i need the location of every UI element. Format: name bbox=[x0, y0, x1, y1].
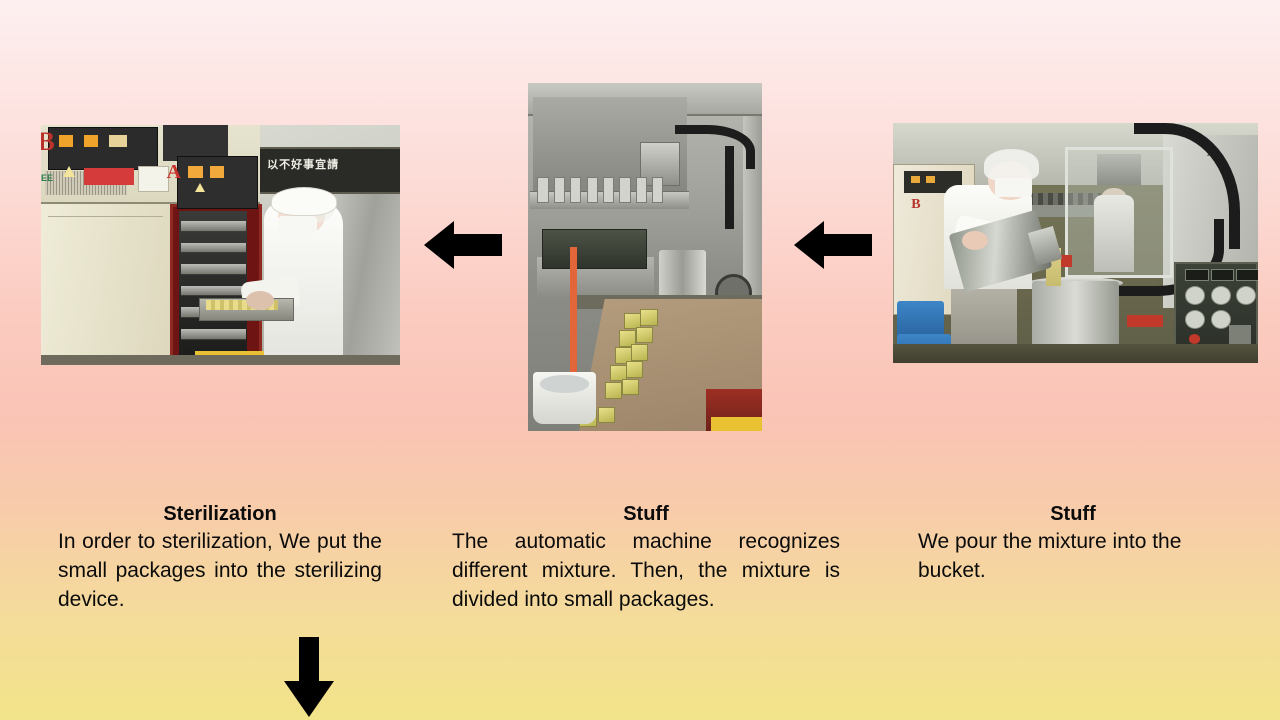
photo-left-oven-cabinet bbox=[41, 199, 172, 365]
photo-sterilization: 以不好事宜請 A B EE bbox=[41, 125, 400, 365]
photo-left-letter-b: B bbox=[41, 127, 55, 157]
photo-left-indicator-light bbox=[210, 166, 224, 178]
photo-mid-clamp bbox=[537, 177, 548, 203]
photo-right-gauge bbox=[1185, 286, 1205, 305]
photo-mid-clamp bbox=[603, 177, 614, 203]
photo-mid-sachet bbox=[636, 327, 653, 344]
photo-mid-clamp bbox=[619, 177, 630, 203]
caption-packaging: Stuff The automatic machine recognizes d… bbox=[452, 502, 840, 615]
photo-mid-sachet bbox=[605, 382, 622, 399]
photo-right-display bbox=[1211, 269, 1235, 281]
photo-mid-clamp bbox=[587, 177, 598, 203]
process-flow-slide: 以不好事宜請 A B EE bbox=[0, 0, 1280, 720]
photo-left-oven-tray bbox=[181, 221, 246, 232]
photo-right-stainless-vat bbox=[1032, 281, 1120, 353]
photo-right-display bbox=[1236, 269, 1258, 281]
arrow-down-icon bbox=[283, 637, 335, 720]
photo-right-letter-b: B bbox=[911, 197, 920, 213]
photo-left-indicator-light bbox=[84, 135, 98, 147]
photo-mid-sachet bbox=[631, 344, 648, 361]
photo-right-red-tray bbox=[1127, 315, 1164, 327]
photo-left-oven-tray bbox=[181, 329, 246, 340]
caption-title-mixing: Stuff bbox=[918, 502, 1228, 526]
photo-pouring-mixture: B A bbox=[893, 123, 1258, 363]
photo-mid-sachet bbox=[622, 379, 639, 396]
caption-body-sterilization: In order to sterilization, We put the sm… bbox=[58, 528, 382, 615]
photo-right-worker-face-mask bbox=[995, 178, 1032, 197]
arrow-left-icon-2 bbox=[794, 219, 872, 271]
photo-mid-roller bbox=[659, 250, 706, 299]
photo-left-warning-triangle-icon bbox=[195, 183, 205, 192]
photo-left-worker-face-mask bbox=[278, 216, 317, 235]
photo-left-warning-label bbox=[84, 168, 134, 185]
photo-mid-clamp bbox=[652, 177, 663, 203]
caption-mixing: Stuff We pour the mixture into the bucke… bbox=[918, 502, 1228, 586]
photo-mid-clamp bbox=[554, 177, 565, 203]
photo-left-indicator-light bbox=[109, 135, 127, 147]
photo-mid-clamp bbox=[636, 177, 647, 203]
arrow-left-icon-1 bbox=[424, 219, 502, 271]
photo-mid-hopper-tray bbox=[542, 229, 647, 269]
photo-mid-sachet bbox=[626, 361, 643, 378]
caption-body-mixing: We pour the mixture into the bucket. bbox=[918, 528, 1228, 586]
photo-left-cabinet-seam bbox=[48, 216, 163, 217]
photo-mid-hose bbox=[725, 146, 734, 230]
caption-body-packaging: The automatic machine recognizes differe… bbox=[452, 528, 840, 615]
photo-left-oven-tray bbox=[181, 264, 246, 275]
photo-left-green-label: EE bbox=[41, 173, 53, 183]
photo-right-indicator-light bbox=[911, 176, 920, 183]
photo-left-indicator-light bbox=[188, 166, 202, 178]
photo-right-red-button bbox=[1189, 334, 1200, 344]
photo-left-floor bbox=[41, 355, 400, 365]
photo-left-worker-cap bbox=[271, 187, 338, 215]
photo-right-worker-hand bbox=[962, 231, 988, 250]
photo-left-sign-text: 以不好事宜請 bbox=[267, 156, 339, 172]
photo-left-oven-tray bbox=[181, 243, 246, 254]
photo-mid-yellow-box bbox=[711, 417, 762, 431]
photo-right-indicator-light bbox=[926, 176, 935, 183]
photo-left-letter-a: A bbox=[167, 161, 181, 184]
caption-title-sterilization: Sterilization bbox=[58, 502, 382, 526]
photo-right-gauge bbox=[1185, 310, 1205, 329]
photo-mid-clamp bbox=[570, 177, 581, 203]
photo-left-indicator-light bbox=[59, 135, 73, 147]
photo-left-warning-triangle-icon bbox=[63, 166, 75, 177]
photo-right-gauge bbox=[1211, 286, 1231, 305]
photo-right-gauge bbox=[1211, 310, 1231, 329]
photo-right-display bbox=[1185, 269, 1209, 281]
photo-packaging-machine bbox=[528, 83, 762, 431]
photo-right-worker-hairnet bbox=[984, 149, 1039, 180]
caption-title-packaging: Stuff bbox=[452, 502, 840, 526]
photo-right-floor bbox=[893, 344, 1258, 363]
photo-left-worker-gloved-hand bbox=[246, 291, 275, 310]
photo-left-control-panel bbox=[177, 156, 258, 208]
caption-sterilization: Sterilization In order to sterilization,… bbox=[58, 502, 382, 615]
photo-mid-sachet bbox=[598, 407, 615, 424]
photo-left-info-label bbox=[138, 166, 169, 192]
photo-mid-sachet bbox=[640, 309, 657, 326]
photo-mid-bucket-liquid bbox=[540, 375, 589, 392]
photo-left-oven-tray bbox=[181, 286, 246, 297]
